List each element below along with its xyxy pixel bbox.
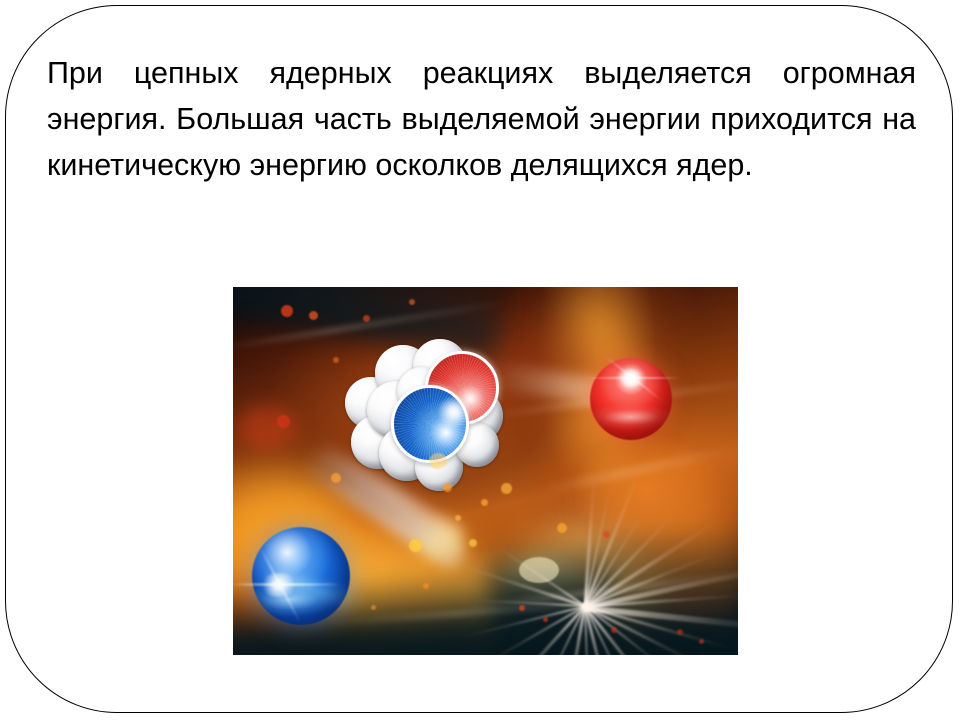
collision-flare xyxy=(437,395,471,429)
paragraph-text: При цепных ядерных реакциях выделяется о… xyxy=(47,50,916,188)
nucleon-cluster xyxy=(345,337,505,477)
slide-body-text: При цепных ядерных реакциях выделяется о… xyxy=(47,50,916,188)
slide-canvas: При цепных ядерных реакциях выделяется о… xyxy=(0,0,960,720)
nuclear-fission-illustration xyxy=(233,287,738,655)
